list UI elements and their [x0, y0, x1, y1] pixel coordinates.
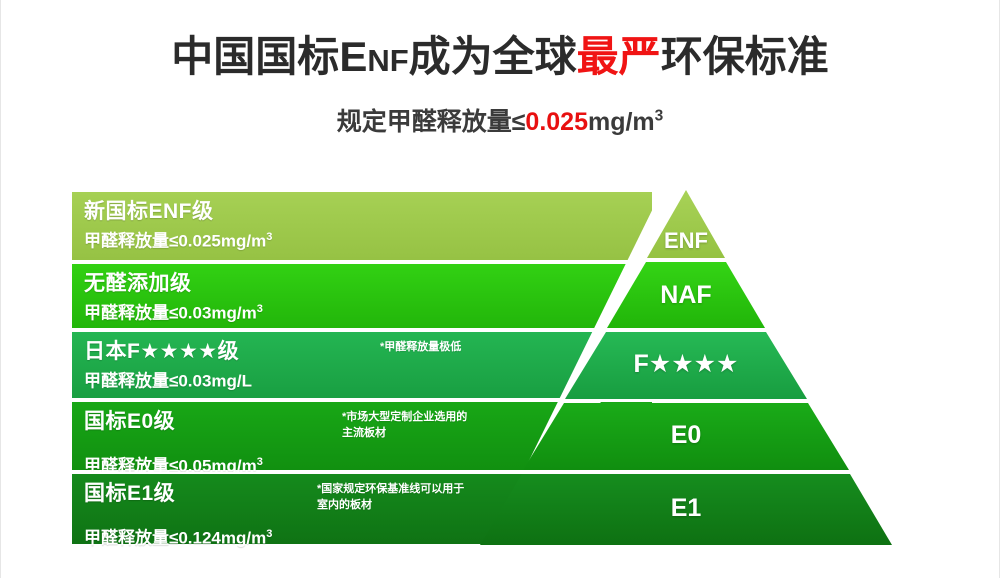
band-list: 新国标ENF级 甲醛释放量≤0.025mg/m3 无醛添加级 甲醛释放量≤0.0…: [72, 190, 652, 546]
subtitle-value: 0.025: [525, 108, 588, 136]
band-note: *甲醛释放量极低: [380, 340, 530, 356]
band-row-enf: 新国标ENF级 甲醛释放量≤0.025mg/m3: [72, 190, 652, 262]
page-subtitle: 规定甲醛释放量≤0.025mg/m3: [0, 80, 1000, 138]
band-row-naf: 无醛添加级 甲醛释放量≤0.03mg/m3: [72, 262, 652, 330]
band-row-e0: 国标E0级 甲醛释放量≤0.05mg/m3 *市场大型定制企业选用的主流板材: [72, 400, 652, 472]
subtitle-prefix: 规定甲醛释放量≤: [337, 108, 526, 136]
band-title: 新国标ENF级: [84, 199, 652, 225]
band-row-e1: 国标E1级 甲醛释放量≤0.124mg/m3 *国家规定环保基准线可以用于室内的…: [72, 472, 652, 546]
pyramid-label-e0: E0: [671, 421, 702, 450]
band-row-f4star: 日本F★★★★级 甲醛释放量≤0.03mg/L *甲醛释放量极低: [72, 330, 652, 400]
band-value-exponent: 3: [257, 456, 263, 468]
title-enf-initial: E: [339, 33, 367, 80]
header: 中国国标ENF成为全球最严环保标准 规定甲醛释放量≤0.025mg/m3: [0, 0, 1000, 138]
subtitle-unit: mg/m: [588, 108, 655, 136]
title-segment-mid: 成为全球: [409, 33, 577, 80]
pyramid-label-enf: ENF: [664, 228, 708, 254]
band-value-text: 甲醛释放量≤0.124mg/m: [84, 529, 266, 548]
title-segment-post: 环保标准: [661, 33, 829, 80]
pyramid-label-naf: NAF: [660, 281, 711, 310]
pyramid-label-e1: E1: [671, 494, 702, 523]
band-note: *市场大型定制企业选用的主流板材: [342, 410, 477, 442]
title-segment-highlight: 最严: [577, 33, 661, 80]
band-note: *国家规定环保基准线可以用于室内的板材: [317, 482, 472, 514]
emission-standard-chart: 新国标ENF级 甲醛释放量≤0.025mg/m3 无醛添加级 甲醛释放量≤0.0…: [0, 186, 1000, 578]
subtitle-unit-exponent: 3: [655, 108, 664, 125]
title-enf-suffix: NF: [367, 43, 408, 78]
band-value-text: 甲醛释放量≤0.025mg/m: [84, 232, 266, 251]
band-value-exponent: 3: [257, 303, 263, 315]
band-value: 甲醛释放量≤0.03mg/L: [84, 365, 652, 394]
band-value-text: 甲醛释放量≤0.03mg/L: [84, 372, 252, 391]
page-title: 中国国标ENF成为全球最严环保标准: [0, 0, 1000, 80]
band-value: 甲醛释放量≤0.025mg/m3: [84, 225, 652, 254]
title-segment-pre: 中国国标: [171, 33, 339, 80]
band-value-exponent: 3: [266, 231, 272, 243]
band-value-exponent: 3: [266, 528, 272, 540]
band-title: 日本F★★★★级: [84, 339, 652, 365]
band-value: 甲醛释放量≤0.03mg/m3: [84, 297, 652, 326]
pyramid-tier-enf: [647, 190, 725, 258]
band-value-text: 甲醛释放量≤0.03mg/m: [84, 304, 257, 323]
band-title: 无醛添加级: [84, 271, 652, 297]
